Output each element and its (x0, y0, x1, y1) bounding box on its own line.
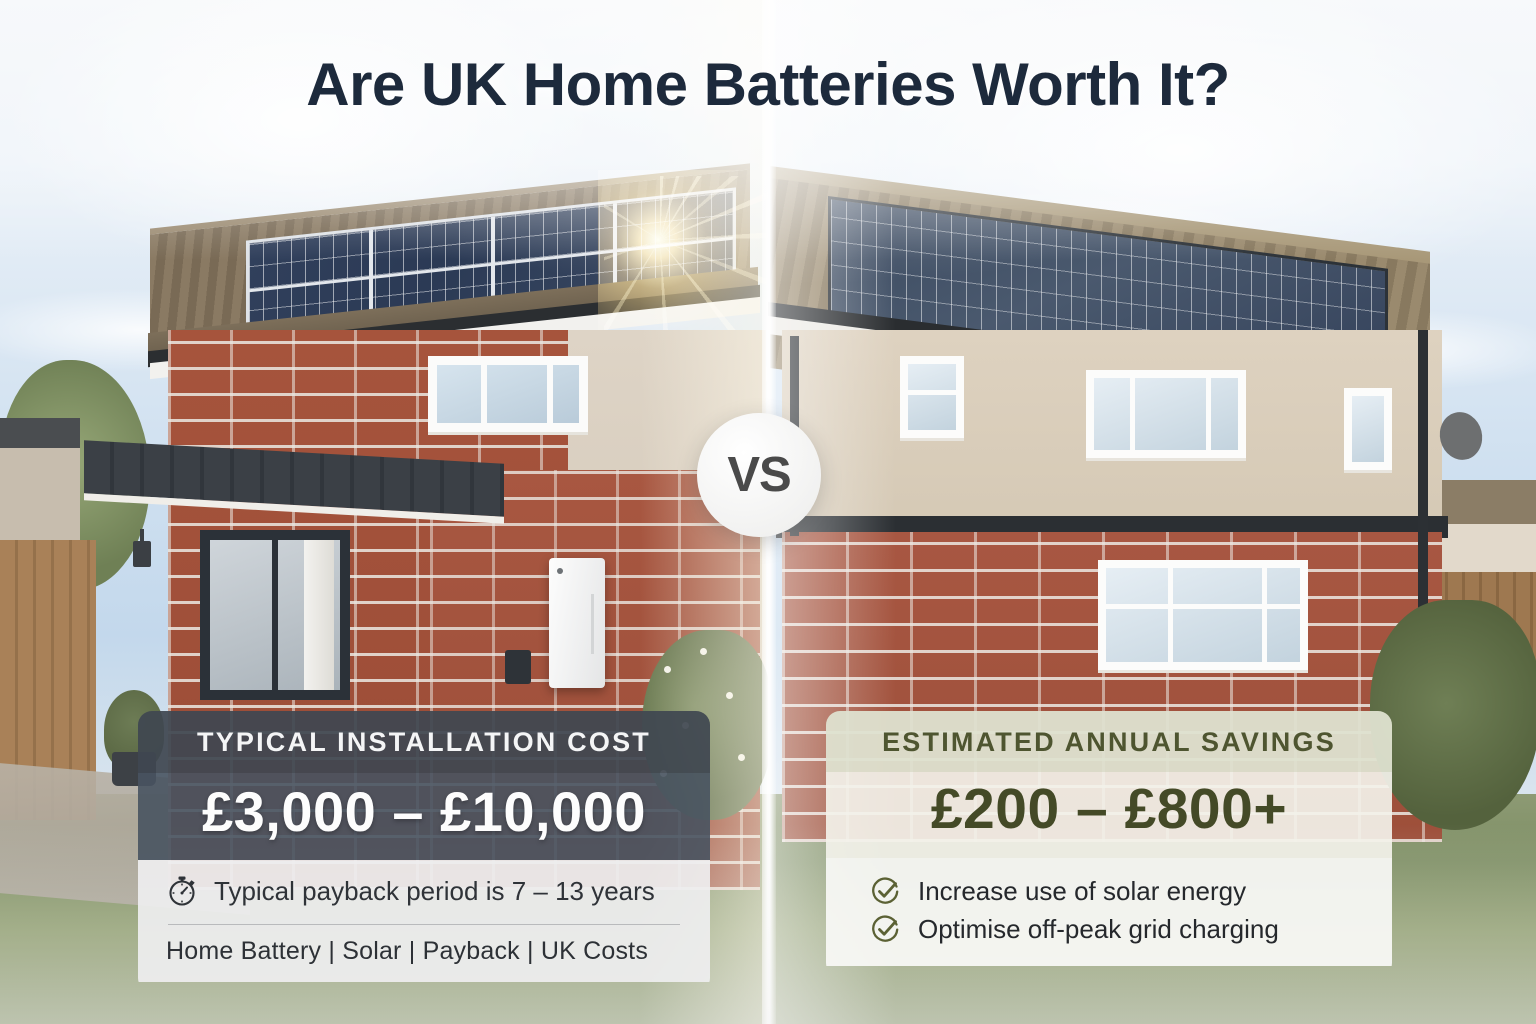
benefit-label: Increase use of solar energy (918, 876, 1246, 907)
hedge (1370, 600, 1536, 830)
card-divider-rule (168, 924, 680, 925)
infographic-canvas: Are UK Home Batteries Worth It? VS TYPIC… (0, 0, 1536, 1024)
window-small-right (1344, 388, 1392, 470)
satellite-dish (1435, 408, 1487, 465)
benefit-row: Increase use of solar energy (870, 872, 1348, 910)
savings-card-header: ESTIMATED ANNUAL SAVINGS (826, 711, 1392, 772)
cost-card-tags: Home Battery | Solar | Payback | UK Cost… (166, 937, 682, 966)
savings-card: ESTIMATED ANNUAL SAVINGS £200 – £800+ In… (826, 711, 1392, 977)
window-ground-floor (1098, 560, 1308, 670)
savings-card-body: Increase use of solar energy Optimise of… (826, 858, 1392, 966)
vs-badge: VS (697, 413, 821, 537)
inverter-box (505, 650, 531, 684)
cost-card-body: Typical payback period is 7 – 13 years H… (138, 860, 710, 982)
benefit-label: Optimise off-peak grid charging (918, 914, 1279, 945)
savings-card-amount: £200 – £800+ (826, 772, 1392, 858)
french-doors (200, 530, 350, 700)
payback-note-label: Typical payback period is 7 – 13 years (214, 876, 655, 907)
cost-card-header: TYPICAL INSTALLATION COST (138, 711, 710, 773)
check-circle-icon (870, 875, 902, 907)
porch-lamp (133, 541, 151, 567)
vs-badge-label: VS (727, 447, 790, 503)
cost-card: TYPICAL INSTALLATION COST £3,000 – £10,0… (138, 711, 710, 992)
stopwatch-icon (166, 874, 200, 908)
neighbour-house (0, 418, 80, 548)
window-small-left (900, 356, 964, 438)
payback-note-row: Typical payback period is 7 – 13 years (166, 874, 682, 908)
upper-window (428, 356, 588, 432)
page-title: Are UK Home Batteries Worth It? (0, 50, 1536, 119)
cost-card-amount: £3,000 – £10,000 (138, 773, 710, 860)
window-triple-centre (1086, 370, 1246, 458)
check-circle-icon (870, 913, 902, 945)
benefit-row: Optimise off-peak grid charging (870, 910, 1348, 948)
home-battery-unit (549, 558, 605, 688)
